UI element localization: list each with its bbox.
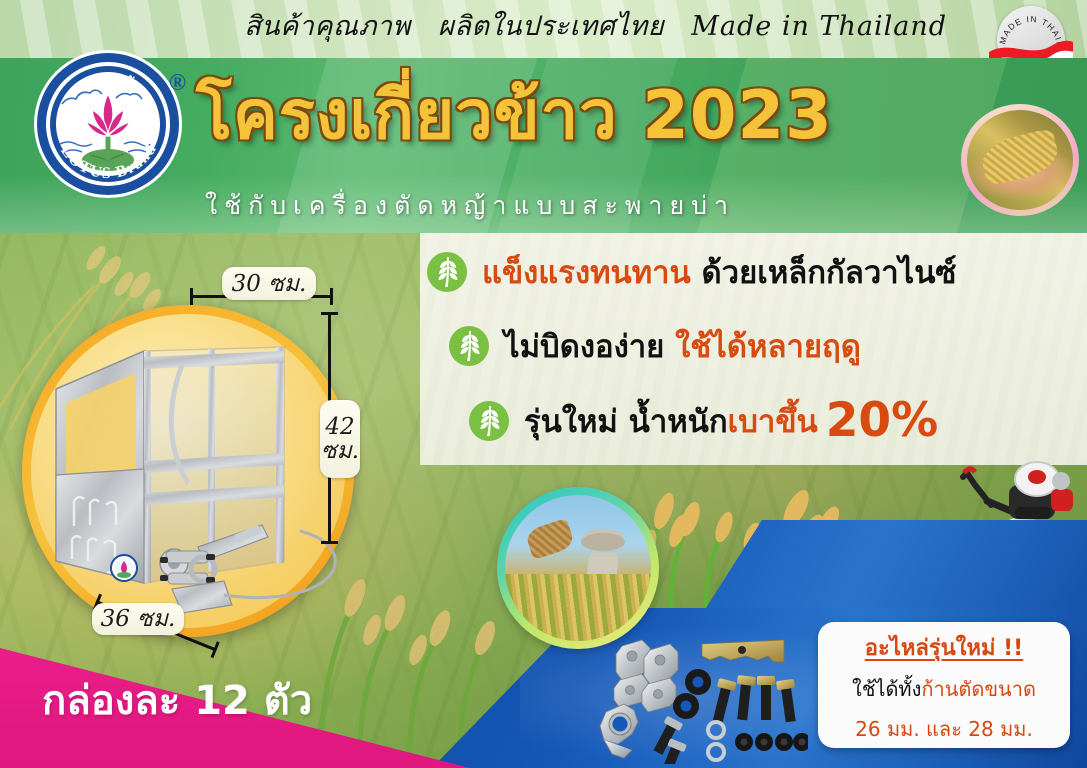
feature-2-highlight: ใช้ได้หลายฤดู [675,329,861,365]
poster-root: สินค้าคุณภาพ ผลิตในประเทศไทย Made in Tha… [0,0,1087,768]
feature-text-1: แข็งแรงทนทาน ด้วยเหล็กกัลวาไนซ์ [482,247,956,297]
rice-harvester-frame-photo [48,311,348,631]
feature-row-1: แข็งแรงทนทาน ด้วยเหล็กกัลวาไนซ์ [426,247,956,297]
tagline: สินค้าคุณภาพ ผลิตในประเทศไทย Made in Tha… [244,4,947,47]
feature-text-3: รุ่นใหม่ น้ำหนักเบาขึ้น20% [524,393,938,448]
parts-card-line-3: 26 มม. และ 28 มม. [828,713,1060,745]
tagline-thai-2: ผลิตในประเทศไทย [438,11,664,42]
rice-leaf-icon [448,325,490,367]
parts-card-line2-plain: ใช้ได้ทั้ง [852,677,921,701]
tagline-thai-1: สินค้าคุณภาพ [244,11,411,42]
hand-holding-rice-photo [961,104,1079,216]
parts-card-line2-highlight: ก้านตัดขนาด [921,677,1036,701]
parts-card-heading: อะไหล่รุ่นใหม่ !! [828,630,1060,665]
rice-leaf-icon [468,400,510,442]
feature-3-percentage: 20% [826,393,939,448]
rice-bundle [525,518,576,560]
dimension-height-value: 42 [325,415,354,439]
farmer-hat [581,533,625,551]
lotus-brand-logo-icon: ตราดอกบัว LOTUS Brand ® [32,48,184,200]
feature-1-plain: ด้วยเหล็กกัลวาไนซ์ [702,255,957,291]
hand-photo-content [967,110,1073,210]
spare-parts-photo [598,626,808,764]
rice-leaf-icon [426,251,468,293]
feature-3-plain: รุ่นใหม่ น้ำหนัก [524,404,728,440]
page-subtitle: ใช้กับเครื่องตัดหญ้าแบบสะพายบ่า [205,186,735,226]
trademark-symbol: ® [169,70,186,96]
feature-row-3: รุ่นใหม่ น้ำหนักเบาขึ้น20% [468,393,938,448]
feature-3-highlight: เบาขึ้น [728,404,818,440]
feature-row-2: ไม่บิดงอง่าย ใช้ได้หลายฤดู [448,321,861,371]
box-quantity-text: กล่องละ 12 ตัว [42,668,312,732]
features-panel: แข็งแรงทนทาน ด้วยเหล็กกัลวาไนซ์ [420,233,1087,465]
feature-1-highlight: แข็งแรงทนทาน [482,255,691,291]
dimension-label-depth: 36 ซม. [92,603,184,635]
dimension-label-width: 30 ซม. [222,267,316,300]
farmer-photo-content [505,495,651,641]
spare-parts-info-card: อะไหล่รุ่นใหม่ !! ใช้ได้ทั้งก้านตัดขนาด … [818,622,1070,748]
feature-text-2: ไม่บิดงอง่าย ใช้ได้หลายฤดู [504,321,861,371]
product-photo-circle [22,305,354,637]
dimension-label-height: 42 ซม. [320,400,360,478]
farmer-harvesting-photo [497,487,659,649]
feature-2-plain: ไม่บิดงอง่าย [504,329,664,365]
dimension-height-unit: ซม. [321,439,359,463]
tagline-english: Made in Thailand [691,11,947,42]
parts-card-line-2: ใช้ได้ทั้งก้านตัดขนาด [828,673,1060,705]
page-title: โครงเกี่ยวข้าว 2023 [196,82,833,149]
